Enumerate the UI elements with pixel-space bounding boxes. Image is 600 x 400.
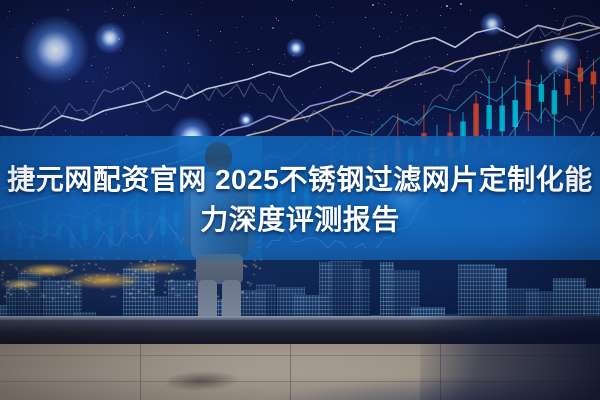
banner-image: 捷元网配资官网 2025不锈钢过滤网片定制化能 力深度评测报告 xyxy=(0,0,600,400)
banner-title: 捷元网配资官网 2025不锈钢过滤网片定制化能 力深度评测报告 xyxy=(0,160,600,240)
person-floor-shadow xyxy=(160,366,286,396)
title-line-1: 捷元网配资官网 2025不锈钢过滤网片定制化能 xyxy=(7,164,593,195)
right-side-shadow xyxy=(420,316,600,400)
title-line-2: 力深度评测报告 xyxy=(0,200,600,240)
